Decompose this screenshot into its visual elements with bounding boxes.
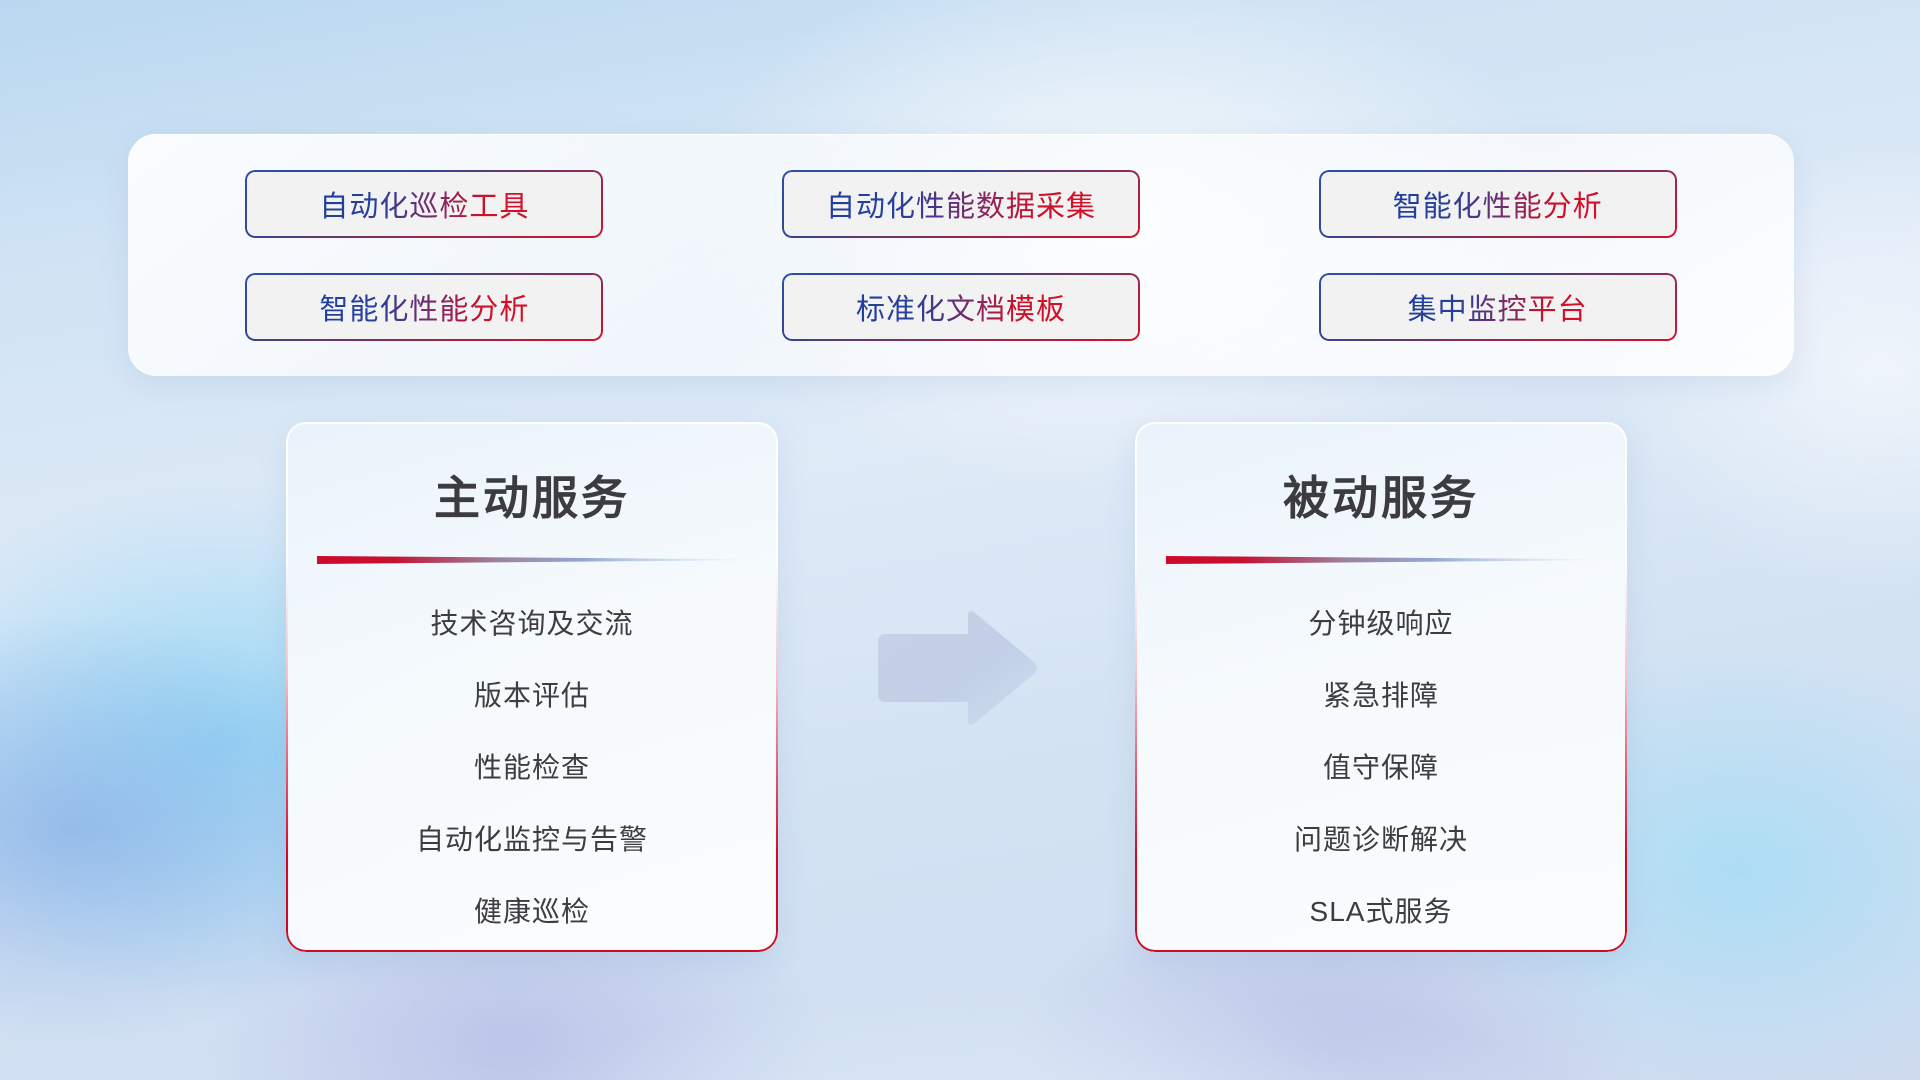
capability-tag[interactable]: 智能化性能分析 <box>245 273 603 341</box>
background-glow-bottom <box>300 930 1800 1080</box>
service-list-item: SLA式服务 <box>1135 876 1627 948</box>
capability-tag[interactable]: 集中监控平台 <box>1319 273 1677 341</box>
service-list-item: 技术咨询及交流 <box>286 588 778 660</box>
service-item-list: 技术咨询及交流 版本评估 性能检查 自动化监控与告警 健康巡检 <box>286 588 778 948</box>
capability-tag-label: 智能化性能分析 <box>1393 183 1603 225</box>
card-divider-line <box>317 554 747 566</box>
service-item-list: 分钟级响应 紧急排障 值守保障 问题诊断解决 SLA式服务 <box>1135 588 1627 948</box>
capability-tag-label: 标准化文档模板 <box>856 286 1066 328</box>
service-list-item: 版本评估 <box>286 660 778 732</box>
service-list-item: 问题诊断解决 <box>1135 804 1627 876</box>
right-block-arrow-icon <box>872 608 1040 730</box>
service-list-item: 健康巡检 <box>286 876 778 948</box>
service-list-item: 分钟级响应 <box>1135 588 1627 660</box>
card-title: 主动服务 <box>286 462 778 528</box>
service-list-item: 紧急排障 <box>1135 660 1627 732</box>
service-card-passive: 被动服务 分钟级响应 紧急排障 值守保障 问题诊断解决 SLA式服务 <box>1135 422 1627 952</box>
capability-tag-panel: 自动化巡检工具 自动化性能数据采集 智能化性能分析 智能化性能分析 标准化文档模… <box>128 134 1794 376</box>
service-list-item: 性能检查 <box>286 732 778 804</box>
capability-tag-label: 集中监控平台 <box>1408 286 1588 328</box>
service-card-active: 主动服务 技术咨询及交流 版本评估 性能检查 自动化监控与告警 健康巡检 <box>286 422 778 952</box>
capability-tag[interactable]: 自动化性能数据采集 <box>782 170 1140 238</box>
service-list-item: 值守保障 <box>1135 732 1627 804</box>
card-divider-line <box>1166 554 1596 566</box>
capability-tag[interactable]: 自动化巡检工具 <box>245 170 603 238</box>
capability-tag-label: 智能化性能分析 <box>319 286 529 328</box>
card-title: 被动服务 <box>1135 462 1627 528</box>
capability-tag[interactable]: 标准化文档模板 <box>782 273 1140 341</box>
service-list-item: 自动化监控与告警 <box>286 804 778 876</box>
capability-tag[interactable]: 智能化性能分析 <box>1319 170 1677 238</box>
capability-tag-label: 自动化性能数据采集 <box>826 183 1096 225</box>
capability-tag-label: 自动化巡检工具 <box>319 183 529 225</box>
slide-canvas: 自动化巡检工具 自动化性能数据采集 智能化性能分析 智能化性能分析 标准化文档模… <box>0 0 1920 1080</box>
